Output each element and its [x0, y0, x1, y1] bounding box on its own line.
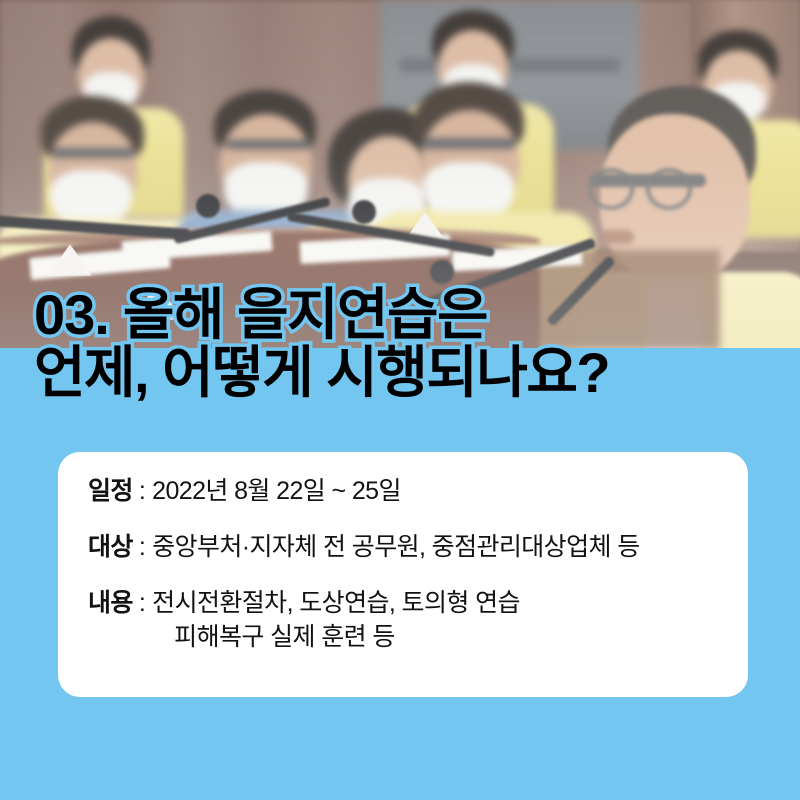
infographic-card: 03.올해 을지연습은 언제, 어떻게 시행되나요? 일정 : 2022년 8월… — [0, 0, 800, 800]
info-value-content-line-2: 피해복구 실제 훈련 등 — [152, 620, 520, 654]
info-row-target: 대상 : 중앙부처·지자체 전 공무원, 중점관리대상업체 등 — [88, 530, 732, 564]
info-label-content: 내용 — [88, 586, 133, 620]
info-card: 일정 : 2022년 8월 22일 ~ 25일 대상 : 중앙부처·지자체 전 … — [58, 452, 748, 697]
info-row-schedule: 일정 : 2022년 8월 22일 ~ 25일 — [88, 474, 732, 508]
info-value-content: 전시전환절차, 도상연습, 토의형 연습 피해복구 실제 훈련 등 — [152, 586, 520, 654]
info-rows: 일정 : 2022년 8월 22일 ~ 25일 대상 : 중앙부처·지자체 전 … — [88, 474, 732, 654]
headline-number: 03. — [34, 283, 123, 346]
headline: 03.올해 을지연습은 언제, 어떻게 시행되나요? — [0, 286, 800, 402]
headline-text-1: 올해 을지연습은 — [123, 283, 487, 346]
info-separator: : — [133, 530, 152, 564]
microphone-head — [430, 260, 454, 284]
info-separator: : — [133, 586, 152, 620]
info-separator: : — [133, 474, 152, 508]
microphone-head — [196, 194, 220, 218]
info-value-content-line-1: 전시전환절차, 도상연습, 토의형 연습 — [152, 589, 520, 617]
info-label-target: 대상 — [88, 530, 133, 564]
info-row-content: 내용 : 전시전환절차, 도상연습, 토의형 연습 피해복구 실제 훈련 등 — [88, 586, 732, 654]
info-label-schedule: 일정 — [88, 474, 133, 508]
microphone-head — [352, 200, 376, 224]
headline-line-1: 03.올해 을지연습은 — [34, 286, 766, 344]
info-value-schedule: 2022년 8월 22일 ~ 25일 — [152, 474, 401, 508]
info-value-target: 중앙부처·지자체 전 공무원, 중점관리대상업체 등 — [152, 530, 639, 564]
headline-line-2: 언제, 어떻게 시행되나요? — [34, 344, 766, 402]
